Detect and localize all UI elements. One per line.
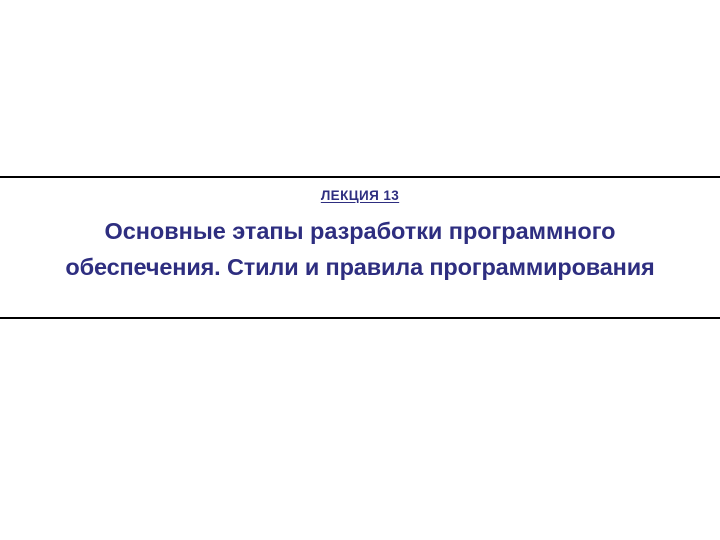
title-block: ЛЕКЦИЯ 13 Основные этапы разработки прог… <box>0 176 720 319</box>
lecture-number-label: ЛЕКЦИЯ 13 <box>0 178 720 204</box>
slide-title-line-2: обеспечения. Стили и правила программиро… <box>1 249 719 285</box>
slide-title: Основные этапы разработки программногооб… <box>0 204 720 285</box>
presentation-slide: ЛЕКЦИЯ 13 Основные этапы разработки прог… <box>0 0 720 540</box>
lecture-number-text: ЛЕКЦИЯ 13 <box>321 188 399 203</box>
slide-title-line-1: Основные этапы разработки программного <box>1 213 719 249</box>
